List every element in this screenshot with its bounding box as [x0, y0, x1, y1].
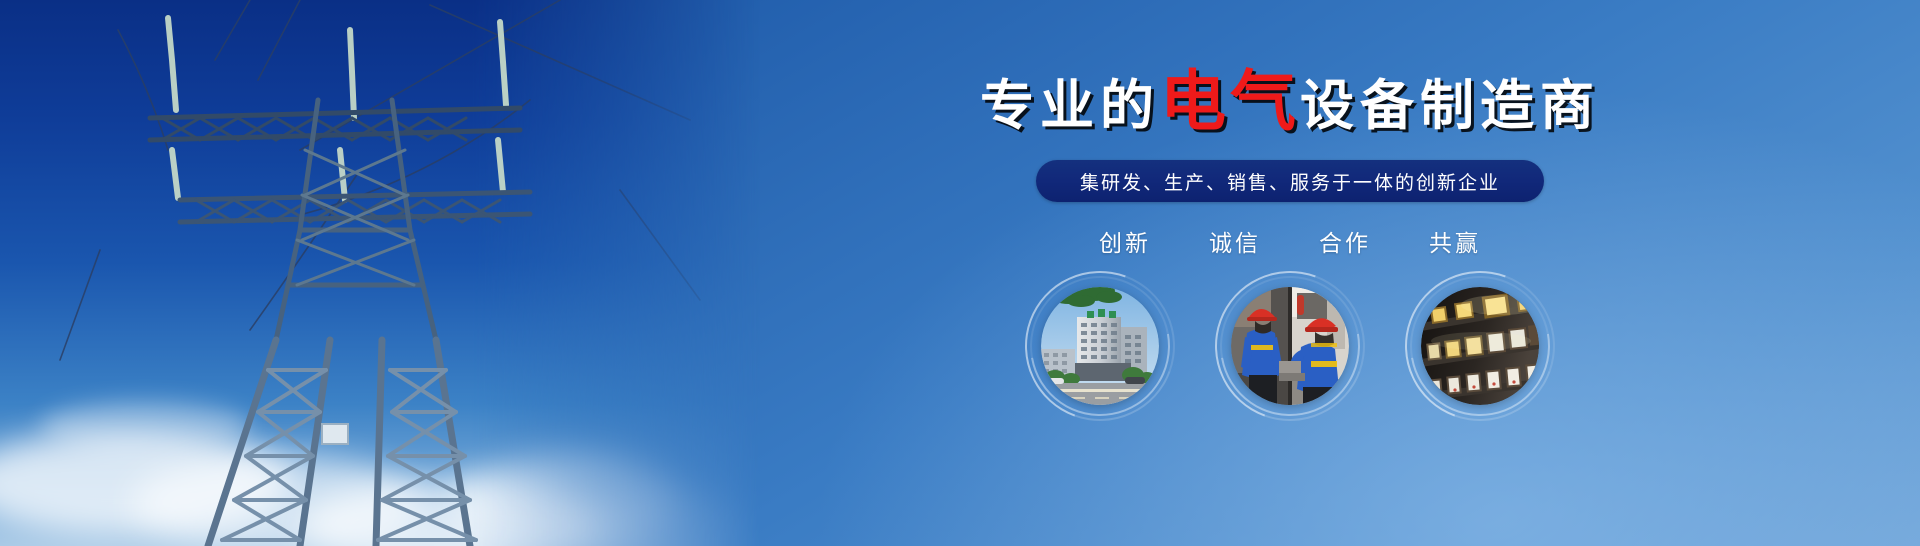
thumbnail-workers-installation[interactable]	[1224, 280, 1356, 412]
headline-part-1: 专业的	[980, 76, 1160, 136]
thumbnail-office-building[interactable]	[1034, 280, 1166, 412]
banner-content: 专业的电气设备制造商 集研发、生产、销售、服务于一体的创新企业 创新 诚信 合作…	[660, 0, 1920, 546]
values-row: 创新 诚信 合作 共赢	[1099, 224, 1481, 258]
headline: 专业的电气设备制造商	[980, 68, 1600, 134]
value-item-integrity: 诚信	[1209, 224, 1261, 258]
headline-accent: 电气	[1160, 64, 1300, 138]
hero-banner: 专业的电气设备制造商 集研发、生产、销售、服务于一体的创新企业 创新 诚信 合作…	[0, 0, 1920, 546]
value-item-cooperation: 合作	[1319, 224, 1371, 258]
thumbnail-certificate-wall[interactable]	[1414, 280, 1546, 412]
certificate-wall-photo	[1421, 287, 1539, 405]
value-item-winwin: 共赢	[1429, 224, 1481, 258]
value-item-innovation: 创新	[1099, 224, 1151, 258]
workers-installation-photo	[1231, 287, 1349, 405]
office-building-photo	[1041, 287, 1159, 405]
subtitle-text: 集研发、生产、销售、服务于一体的创新企业	[1080, 168, 1500, 195]
headline-part-2: 设备制造商	[1300, 76, 1600, 136]
lattice-tower-graphic	[0, 0, 760, 546]
subtitle-pill: 集研发、生产、销售、服务于一体的创新企业	[1036, 160, 1544, 202]
thumbnail-row	[1034, 280, 1546, 412]
